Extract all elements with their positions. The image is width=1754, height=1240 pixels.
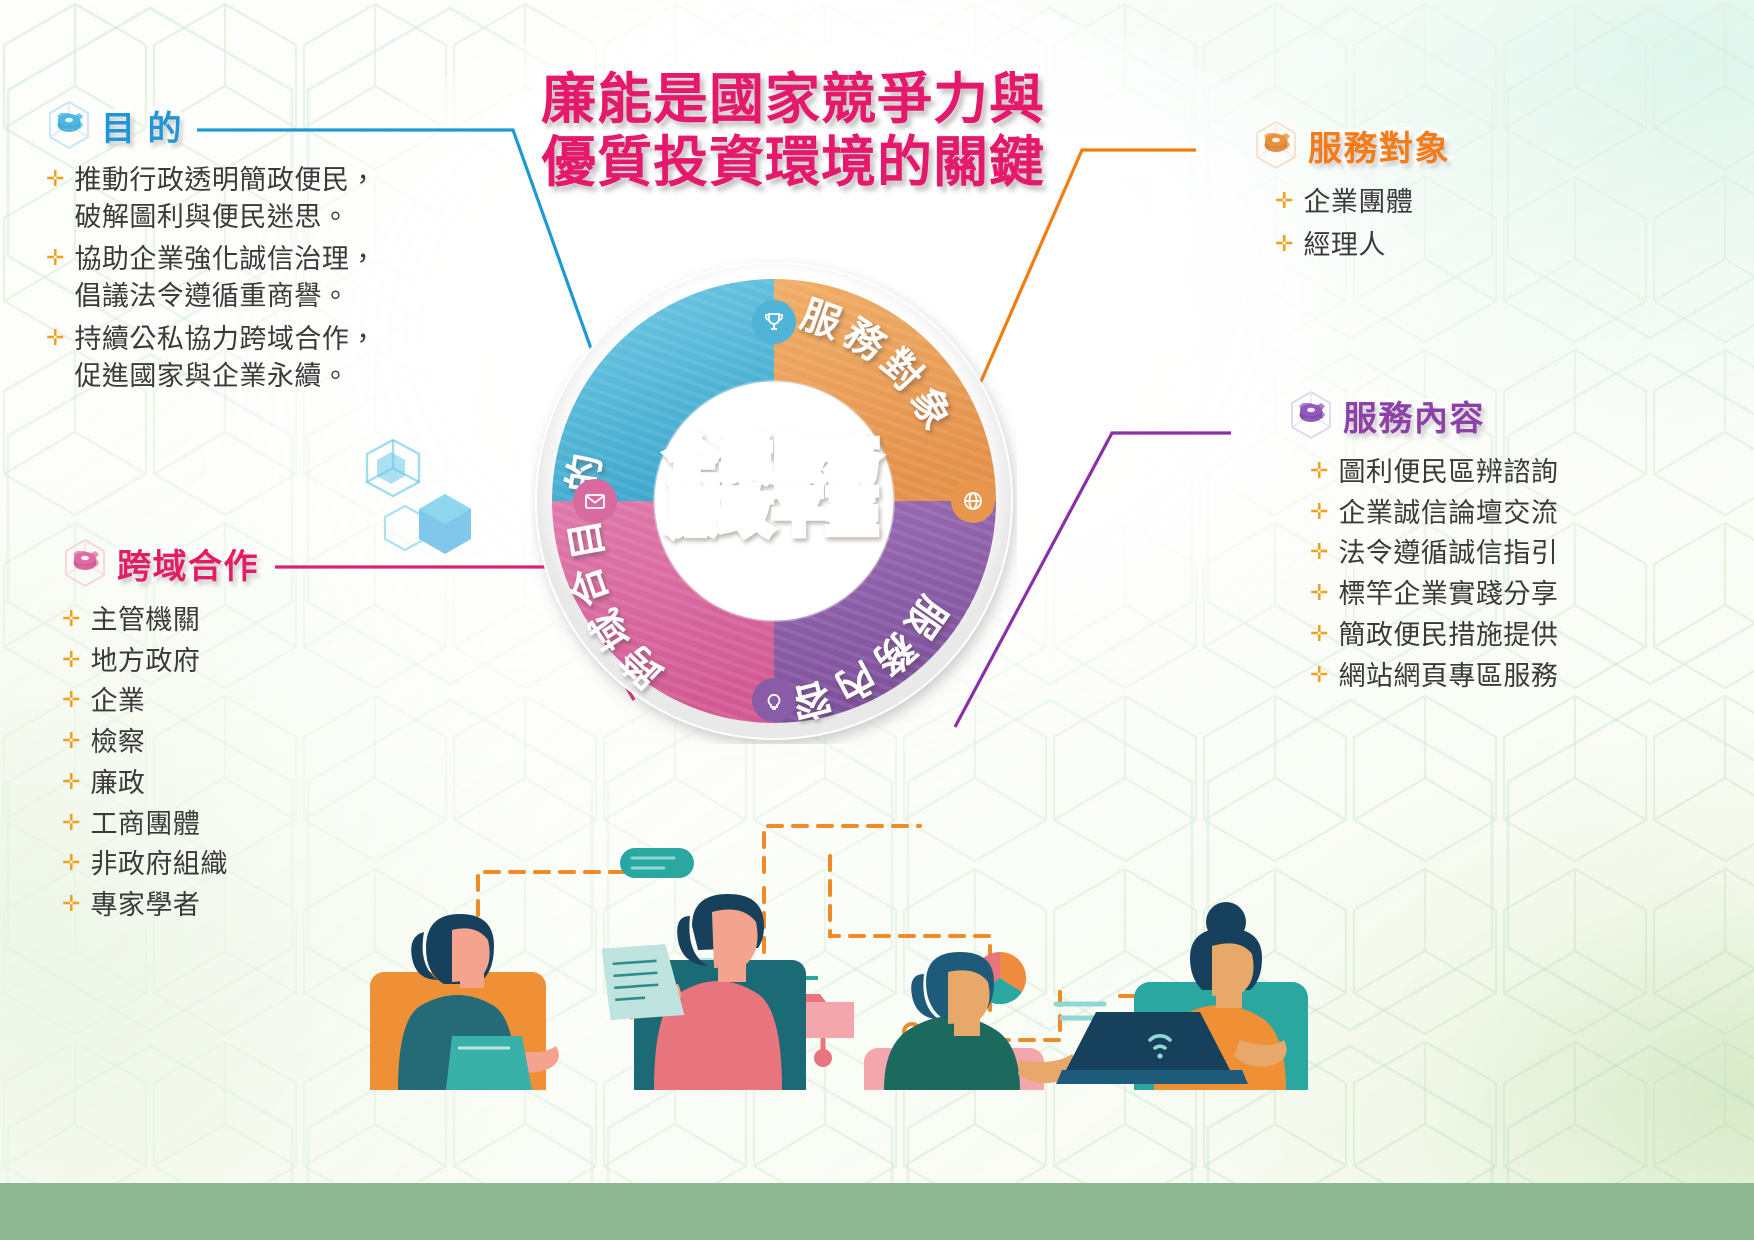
list-item: ✛ 推動行政透明簡政便民， 破解圖利與便民迷思。 — [46, 162, 516, 235]
bullet-plus-icon: ✛ — [1310, 576, 1328, 610]
center-text-outline: 廉政平臺 — [531, 487, 1017, 538]
list-item: ✛ 持續公私協力跨域合作， 促進國家與企業永續。 — [46, 321, 516, 394]
section-audience-header: 服務對象 — [1253, 120, 1633, 170]
people-illustration — [360, 760, 1390, 1090]
list-item: ✛網站網頁專區服務 — [1310, 658, 1728, 695]
bullet-plus-icon: ✛ — [62, 806, 80, 840]
list-item-label: 檢察 — [90, 724, 145, 761]
list-item: ✛簡政便民措施提供 — [1310, 617, 1728, 654]
list-item: ✛主管機關 — [62, 602, 392, 639]
bullet-plus-icon: ✛ — [46, 321, 64, 355]
lightbulb-icon — [752, 678, 796, 722]
person-figure-1 — [370, 914, 559, 1090]
list-item-label: 企業誠信論壇交流 — [1338, 495, 1558, 532]
center-line-1: 企業服務企業服務 — [531, 436, 1017, 487]
list-item-label: 專家學者 — [90, 887, 200, 924]
list-item-label: 圖利便民區辨諮詢 — [1338, 454, 1558, 491]
person-figure-2 — [602, 894, 806, 1090]
page-title: 廉能是國家競爭力與 優質投資環境的關鍵 — [513, 68, 1073, 193]
list-item-label: 工商團體 — [90, 806, 200, 843]
cube-gear-icon — [62, 538, 108, 588]
bullet-plus-icon: ✛ — [62, 724, 80, 758]
list-item-label: 簡政便民措施提供 — [1338, 617, 1558, 654]
headline-line-1: 廉能是國家競爭力與 — [513, 68, 1073, 131]
section-cooperation-title: 跨域合作 — [117, 539, 259, 588]
list-item-label: 網站網頁專區服務 — [1338, 658, 1558, 695]
cube-gear-icon — [1288, 390, 1334, 440]
section-cooperation-header: 跨域合作 — [62, 538, 392, 588]
list-item: ✛工商團體 — [62, 806, 392, 843]
bullet-plus-icon: ✛ — [62, 765, 80, 799]
trophy-icon — [752, 300, 796, 344]
list-item: ✛檢察 — [62, 724, 392, 761]
bullet-plus-icon: ✛ — [46, 162, 64, 196]
bullet-plus-icon: ✛ — [46, 241, 64, 275]
center-text-outline: 企業服務 — [531, 436, 1017, 487]
section-content-list: ✛圖利便民區辨諮詢 ✛企業誠信論壇交流 ✛法令遵循誠信指引 ✛標竿企業實踐分享 … — [1288, 454, 1728, 694]
person-figure-4 — [1056, 902, 1308, 1090]
list-item-label: 持續公私協力跨域合作， 促進國家與企業永續。 — [74, 321, 377, 394]
list-item-label: 企業 — [90, 683, 145, 720]
list-item: ✛地方政府 — [62, 643, 392, 680]
cube-gear-icon — [46, 100, 92, 150]
cube-gear-icon — [1253, 120, 1299, 170]
bullet-plus-icon: ✛ — [1310, 617, 1328, 651]
bullet-plus-icon: ✛ — [1310, 454, 1328, 488]
list-item-label: 地方政府 — [90, 643, 200, 680]
bullet-plus-icon: ✛ — [62, 602, 80, 636]
bullet-plus-icon: ✛ — [62, 683, 80, 717]
section-purpose-header: 目 的 — [46, 100, 516, 150]
list-item-label: 非政府組織 — [90, 846, 228, 883]
list-item: ✛企業 — [62, 683, 392, 720]
section-content-header: 服務內容 — [1288, 390, 1728, 440]
section-purpose: 目 的 ✛ 推動行政透明簡政便民， 破解圖利與便民迷思。 ✛ 協助企業強化誠信治… — [46, 100, 516, 400]
list-item: ✛圖利便民區辨諮詢 — [1310, 454, 1728, 491]
center-line-2: 廉政平臺廉政平臺 — [531, 487, 1017, 538]
list-item: ✛企業誠信論壇交流 — [1310, 495, 1728, 532]
list-item: ✛非政府組織 — [62, 846, 392, 883]
list-item-label: 協助企業強化誠信治理， 倡議法令遵循重商譽。 — [74, 241, 377, 314]
headline-line-2: 優質投資環境的關鍵 — [513, 131, 1073, 194]
list-item-label: 企業團體 — [1303, 184, 1413, 221]
section-purpose-title: 目 的 — [101, 101, 183, 150]
section-audience-list: ✛企業團體 ✛經理人 — [1253, 184, 1633, 263]
bullet-plus-icon: ✛ — [1310, 535, 1328, 569]
list-item: ✛廉政 — [62, 765, 392, 802]
list-item: ✛法令遵循誠信指引 — [1310, 535, 1728, 572]
donut-diagram: 目 的 服務對象 服務內容 跨域合作 企業服務企業服務 廉政平臺廉政平臺 — [531, 258, 1017, 744]
list-item-label: 主管機關 — [90, 602, 200, 639]
list-item: ✛專家學者 — [62, 887, 392, 924]
list-item-label: 經理人 — [1303, 227, 1386, 264]
list-item-label: 法令遵循誠信指引 — [1338, 535, 1558, 572]
list-item: ✛標竿企業實踐分享 — [1310, 576, 1728, 613]
list-item-label: 標竿企業實踐分享 — [1338, 576, 1558, 613]
list-item-label: 廉政 — [90, 765, 145, 802]
section-audience: 服務對象 ✛企業團體 ✛經理人 — [1253, 120, 1633, 269]
list-item: ✛ 協助企業強化誠信治理， 倡議法令遵循重商譽。 — [46, 241, 516, 314]
section-audience-title: 服務對象 — [1308, 121, 1450, 170]
section-purpose-list: ✛ 推動行政透明簡政便民， 破解圖利與便民迷思。 ✛ 協助企業強化誠信治理， 倡… — [46, 162, 516, 394]
section-content: 服務內容 ✛圖利便民區辨諮詢 ✛企業誠信論壇交流 ✛法令遵循誠信指引 ✛標竿企業… — [1288, 390, 1728, 698]
list-item-label: 推動行政透明簡政便民， 破解圖利與便民迷思。 — [74, 162, 377, 235]
person-figure-3 — [864, 952, 1076, 1090]
section-cooperation-list: ✛主管機關 ✛地方政府 ✛企業 ✛檢察 ✛廉政 ✛工商團體 ✛非政府組織 ✛專家… — [62, 602, 392, 924]
donut-center-text: 企業服務企業服務 廉政平臺廉政平臺 — [531, 436, 1017, 538]
bullet-plus-icon: ✛ — [1275, 184, 1293, 218]
section-content-title: 服務內容 — [1343, 391, 1485, 440]
list-item: ✛企業團體 — [1275, 184, 1633, 221]
section-cooperation: 跨域合作 ✛主管機關 ✛地方政府 ✛企業 ✛檢察 ✛廉政 ✛工商團體 ✛非政府組… — [62, 538, 392, 928]
bullet-plus-icon: ✛ — [1310, 658, 1328, 692]
bullet-plus-icon: ✛ — [1275, 227, 1293, 261]
footer-bar — [0, 1183, 1754, 1240]
bullet-plus-icon: ✛ — [62, 846, 80, 880]
bullet-plus-icon: ✛ — [1310, 495, 1328, 529]
list-item: ✛經理人 — [1275, 227, 1633, 264]
speech-bubble-icon — [620, 848, 694, 878]
bullet-plus-icon: ✛ — [62, 643, 80, 677]
bullet-plus-icon: ✛ — [62, 887, 80, 921]
